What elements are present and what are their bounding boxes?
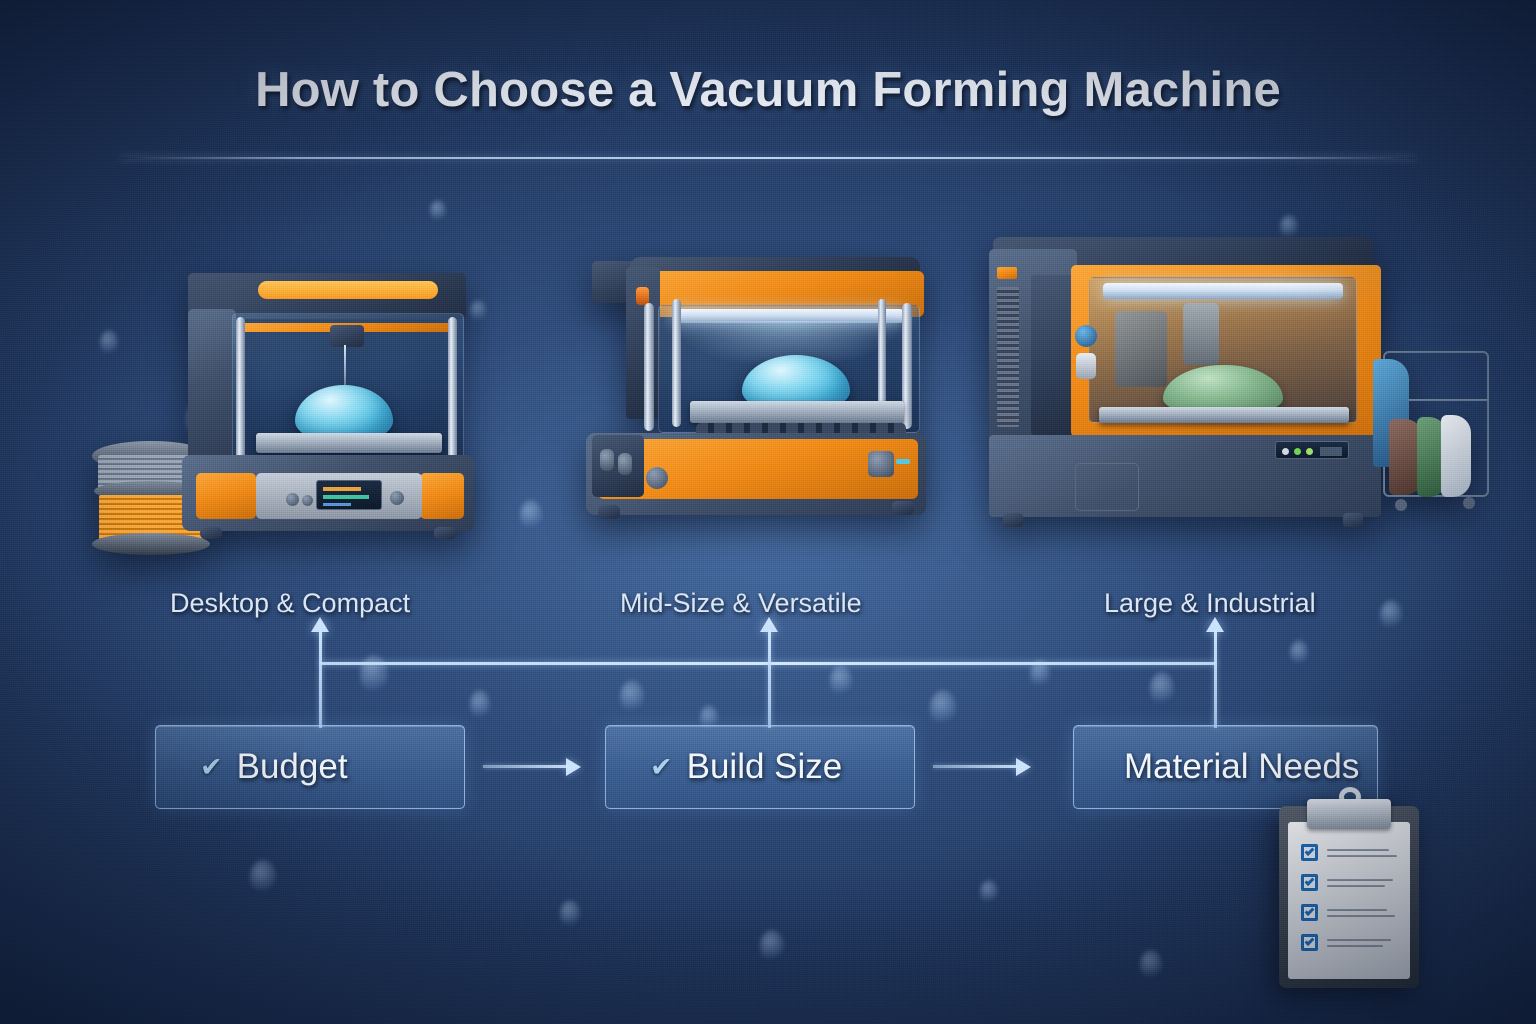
criteria-label-budget: Budget [237,747,348,787]
control-knob-3[interactable] [390,491,404,505]
criteria-box-build-size[interactable]: ✔ Build Size [605,725,915,809]
clipboard-paper [1288,822,1410,979]
infographic-canvas: How to Choose a Vacuum Forming Machine [0,0,1536,1024]
forming-bed [1099,407,1349,423]
control-knob-1[interactable] [286,493,299,506]
status-display [316,480,382,510]
checklist-text-lines [1327,909,1395,917]
lever-handle-2[interactable] [618,453,632,475]
flow-arrow-1-head [566,758,581,776]
foot-right [434,527,456,539]
category-labels: Desktop & Compact Mid-Size & Versatile L… [0,580,1536,620]
post-left-front [644,303,654,431]
foot-left [598,505,620,519]
checklist-item [1301,874,1393,891]
checklist-item [1301,844,1397,861]
check-icon: ✔ [200,754,223,781]
base-accent-right [420,473,464,519]
control-knob-2[interactable] [302,495,313,506]
post-left-rear [672,299,681,427]
checklist-item [1301,934,1391,951]
indicator-panel [1275,441,1349,459]
caster-left [1003,513,1023,527]
page-title: How to Choose a Vacuum Forming Machine [0,62,1536,118]
flow-arrow-2-head [1016,758,1031,776]
column-left [236,317,245,459]
connector-line-material-needs [1214,630,1217,728]
status-lamp [997,267,1017,279]
checkbox-checked-icon [1301,874,1318,891]
top-heater-strip [258,281,438,299]
valve-indicator [896,459,910,464]
criteria-box-material-needs[interactable]: Material Needs [1073,725,1378,809]
checkbox-checked-icon [1301,934,1318,951]
service-door[interactable] [1031,275,1075,435]
machine-row [0,225,1536,565]
checklist-text-lines [1327,939,1391,947]
lever-handle-1[interactable] [600,449,614,471]
vent-grille [997,287,1019,427]
flow-arrow-2-line [933,765,1018,768]
foot-right [892,501,914,515]
machine-large-industrial[interactable] [975,225,1495,545]
forming-bed [690,401,904,423]
checklist-text-lines [1327,879,1393,887]
caster-right [1343,513,1363,527]
check-icon: ✔ [650,754,673,781]
heater-tube [1103,283,1343,299]
toggle-switch[interactable] [1076,353,1096,379]
flow-arrow-1-line [483,765,568,768]
foot-left [200,527,222,539]
machine-side-panel [188,309,236,461]
tooling-block [1115,311,1167,387]
machine-desktop-compact[interactable] [90,265,480,555]
clipboard-clamp-icon [1307,799,1391,829]
checkbox-checked-icon [1301,904,1318,921]
column-right [448,317,457,459]
label-mid-size: Mid-Size & Versatile [620,588,862,619]
criteria-label-material-needs: Material Needs [1124,747,1359,787]
port-dial[interactable] [646,467,668,489]
checklist-item [1301,904,1395,921]
connector-line-build-size [768,630,771,728]
label-large-industrial: Large & Industrial [1104,588,1316,619]
clipboard-icon [1279,806,1419,988]
print-head [330,325,364,347]
material-rack [1377,345,1497,523]
label-desktop-compact: Desktop & Compact [170,588,410,619]
emergency-stop-button[interactable] [1075,325,1097,347]
robot-arm-icon [1183,303,1219,365]
access-hatch[interactable] [1075,463,1139,511]
connector-line-budget [319,630,322,728]
checklist-text-lines [1327,849,1397,857]
machine-mid-size[interactable] [540,243,940,543]
checkbox-checked-icon [1301,844,1318,861]
criteria-label-build-size: Build Size [687,747,843,787]
vacuum-valve[interactable] [868,451,894,477]
base-accent-left [196,473,256,519]
title-divider [120,157,1416,159]
forming-bed [256,433,442,453]
criteria-box-budget[interactable]: ✔ Budget [155,725,465,809]
